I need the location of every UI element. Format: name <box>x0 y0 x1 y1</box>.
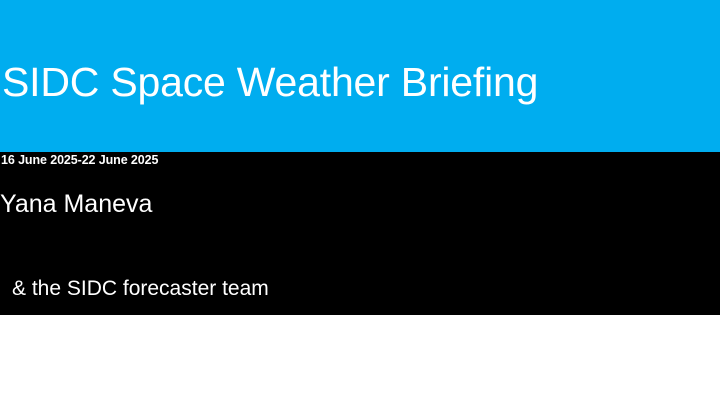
slide-title: SIDC Space Weather Briefing <box>2 58 702 106</box>
author-name: Yana Maneva <box>0 189 152 219</box>
date-range-label: 16 June 2025-22 June 2025 <box>1 152 158 168</box>
forecaster-team-label: & the SIDC forecaster team <box>12 276 269 302</box>
presentation-slide: SIDC Space Weather Briefing 16 June 2025… <box>0 0 720 405</box>
slide-footer: ★ ★ ★ ★ ★ ★ ★ ★ ★ ★ Royal Observatory of… <box>0 315 720 405</box>
